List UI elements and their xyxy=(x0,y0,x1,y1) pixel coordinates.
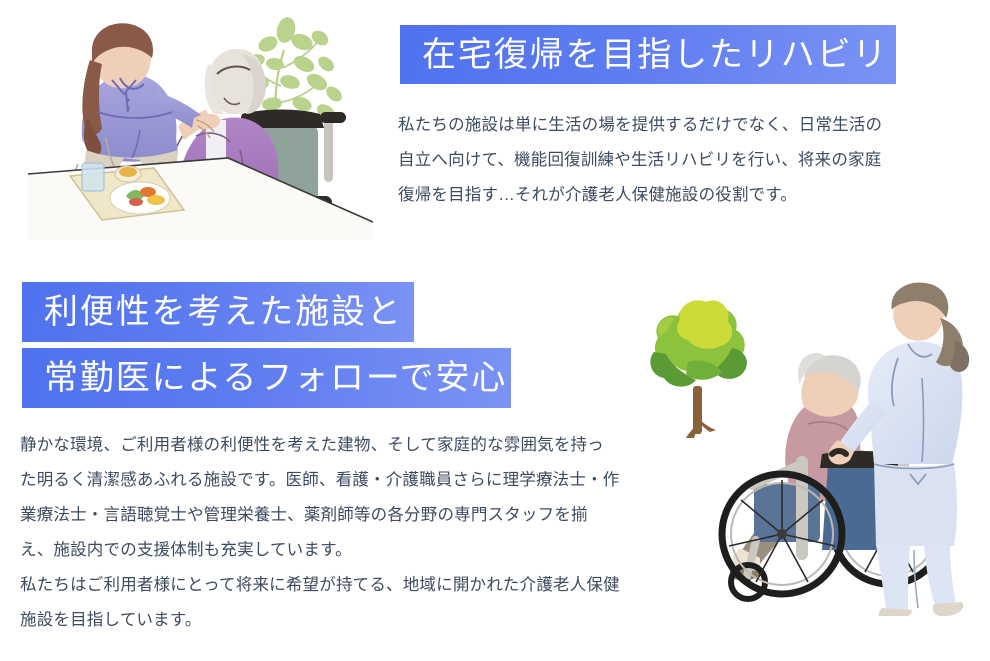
page-root: 在宅復帰を目指したリハビリ 私たちの施設は単に生活の場を提供するだけでなく、日常… xyxy=(0,0,990,661)
section-facility-paragraph: 静かな環境、ご利用者様の利便性を考えた建物、そして家庭的な雰囲気を持った明るく清… xyxy=(20,428,620,638)
dining-table-graphic xyxy=(28,158,373,240)
section-rehab-banner-text: 在宅復帰を目指したリハビリ xyxy=(422,38,888,72)
section-rehab-paragraph-text: 私たちの施設は単に生活の場を提供するだけでなく、日常生活の自立へ向けて、機能回復… xyxy=(398,108,898,213)
section-facility-banner-line1-text: 利便性を考えた施設と xyxy=(44,295,403,329)
section-facility-paragraph-2: 私たちはご利用者様にとって将来に希望が持てる、地域に開かれた介護老人保健施設を目… xyxy=(20,568,620,638)
section-rehab-paragraph: 私たちの施設は単に生活の場を提供するだけでなく、日常生活の自立へ向けて、機能回復… xyxy=(398,108,898,213)
section-rehab-banner: 在宅復帰を目指したリハビリ xyxy=(400,25,896,84)
meal-assistance-illustration xyxy=(28,8,373,240)
section-facility-banner-line2-text: 常勤医によるフォローで安心 xyxy=(44,361,507,395)
tree-graphic xyxy=(650,300,747,438)
section-facility-banner-line2: 常勤医によるフォローで安心 xyxy=(22,348,511,408)
wheelchair-push-handle-graphic xyxy=(832,451,846,454)
wheelchair-walk-illustration xyxy=(636,278,986,616)
section-facility-paragraph-1: 静かな環境、ご利用者様の利便性を考えた建物、そして家庭的な雰囲気を持った明るく清… xyxy=(20,428,620,568)
section-facility-banner-line1: 利便性を考えた施設と xyxy=(22,282,414,342)
